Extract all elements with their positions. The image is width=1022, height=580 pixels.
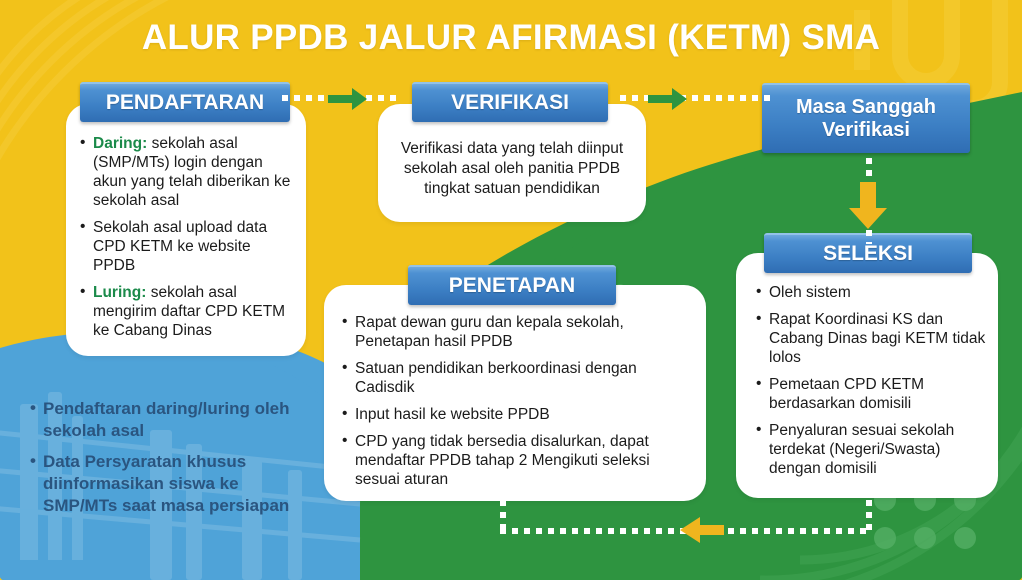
list-item: Data Persyaratan khusus diinformasikan s… bbox=[30, 451, 312, 517]
chip-verifikasi-label: VERIFIKASI bbox=[451, 91, 569, 115]
verifikasi-text: Verifikasi data yang telah diinput sekol… bbox=[390, 139, 634, 199]
list-item: Input hasil ke website PPDB bbox=[342, 405, 694, 424]
penetapan-bullets: Rapat dewan guru dan kepala sekolah, Pen… bbox=[342, 313, 694, 489]
infographic-canvas: ALUR PPDB JALUR AFIRMASI (KETM) SMA PEND… bbox=[0, 0, 1022, 580]
bullet-text: Pendaftaran daring/luring oleh sekolah a… bbox=[43, 399, 290, 440]
pendaftaran-bullets: Daring: sekolah asal (SMP/MTs) login den… bbox=[80, 134, 294, 340]
list-item: Penyaluran sesuai sekolah terdekat (Nege… bbox=[756, 421, 988, 478]
page-title: ALUR PPDB JALUR AFIRMASI (KETM) SMA bbox=[0, 16, 1022, 60]
bullet-text: Rapat dewan guru dan kepala sekolah, Pen… bbox=[355, 314, 624, 350]
list-item: Pendaftaran daring/luring oleh sekolah a… bbox=[30, 398, 312, 442]
list-item: Pemetaan CPD KETM berdasarkan domisili bbox=[756, 375, 988, 413]
list-item: Rapat Koordinasi KS dan Cabang Dinas bag… bbox=[756, 310, 988, 367]
arrow-right-icon-1 bbox=[328, 85, 368, 113]
bullet-text: Sekolah asal upload data CPD KETM ke web… bbox=[93, 219, 267, 274]
chip-masa-sanggah-label: Masa Sanggah Verifikasi bbox=[770, 96, 962, 142]
bullet-text: CPD yang tidak bersedia disalurkan, dapa… bbox=[355, 433, 650, 488]
bullet-text: Oleh sistem bbox=[769, 284, 851, 301]
chip-masa-sanggah[interactable]: Masa Sanggah Verifikasi bbox=[762, 83, 970, 153]
bullet-text: Data Persyaratan khusus diinformasikan s… bbox=[43, 452, 289, 515]
bullet-text: Pemetaan CPD KETM berdasarkan domisili bbox=[769, 376, 924, 412]
verifikasi-paragraph: Verifikasi data yang telah diinput sekol… bbox=[390, 139, 634, 199]
seleksi-bullets: Oleh sistem Rapat Koordinasi KS dan Caba… bbox=[756, 283, 988, 478]
list-item: Sekolah asal upload data CPD KETM ke web… bbox=[80, 218, 294, 275]
bullet-text: Satuan pendidikan berkoordinasi dengan C… bbox=[355, 360, 637, 396]
list-item: Daring: sekolah asal (SMP/MTs) login den… bbox=[80, 134, 294, 210]
list-item: Rapat dewan guru dan kepala sekolah, Pen… bbox=[342, 313, 694, 351]
chip-pendaftaran-label: PENDAFTARAN bbox=[106, 91, 264, 115]
bullet-text: Rapat Koordinasi KS dan Cabang Dinas bag… bbox=[769, 311, 985, 366]
bullet-lead: Daring bbox=[93, 135, 142, 152]
list-item: CPD yang tidak bersedia disalurkan, dapa… bbox=[342, 432, 694, 489]
arrow-down-icon bbox=[848, 182, 888, 230]
arrow-left-icon bbox=[678, 515, 724, 545]
list-item: Oleh sistem bbox=[756, 283, 988, 302]
notes-bullets: Pendaftaran daring/luring oleh sekolah a… bbox=[30, 398, 312, 526]
list-item: Luring: sekolah asal mengirim daftar CPD… bbox=[80, 283, 294, 340]
chip-penetapan[interactable]: PENETAPAN bbox=[408, 265, 616, 305]
chip-penetapan-label: PENETAPAN bbox=[449, 274, 575, 298]
bullet-text: Input hasil ke website PPDB bbox=[355, 406, 550, 423]
arrow-right-icon-2 bbox=[648, 85, 688, 113]
chip-verifikasi[interactable]: VERIFIKASI bbox=[412, 82, 608, 122]
chip-seleksi-label: SELEKSI bbox=[823, 242, 913, 266]
bullet-lead: Luring bbox=[93, 284, 141, 301]
connector-dotted-verifikasi-sanggah bbox=[620, 95, 770, 101]
chip-pendaftaran[interactable]: PENDAFTARAN bbox=[80, 82, 290, 122]
bullet-text: Penyaluran sesuai sekolah terdekat (Nege… bbox=[769, 422, 954, 477]
list-item: Satuan pendidikan berkoordinasi dengan C… bbox=[342, 359, 694, 397]
connector-dotted-penetapan-up bbox=[500, 500, 506, 534]
